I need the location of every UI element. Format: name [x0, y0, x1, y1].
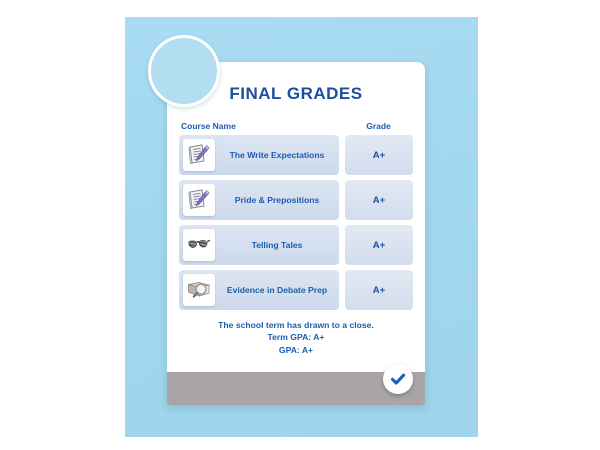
grade-value: A+	[345, 270, 413, 310]
table-row[interactable]: Telling Tales A+	[179, 225, 413, 265]
final-grades-card: FINAL GRADES Course Name Grade	[167, 62, 425, 405]
table-row[interactable]: Pride & Prepositions A+	[179, 180, 413, 220]
confirm-button[interactable]	[383, 364, 413, 394]
grade-value: A+	[345, 180, 413, 220]
card-body: FINAL GRADES Course Name Grade	[167, 62, 425, 372]
course-chip[interactable]: Evidence in Debate Prep	[179, 270, 339, 310]
course-chip[interactable]: Pride & Prepositions	[179, 180, 339, 220]
course-name-label: Telling Tales	[215, 240, 339, 251]
sunglasses-icon	[183, 229, 215, 261]
grade-value: A+	[345, 225, 413, 265]
notepad-pen-icon	[183, 139, 215, 171]
course-name-label: The Write Expectations	[215, 150, 339, 161]
report-card-stage: FINAL GRADES Course Name Grade	[125, 17, 478, 437]
notepad-pen-icon	[183, 184, 215, 216]
course-chip[interactable]: Telling Tales	[179, 225, 339, 265]
card-footer	[167, 372, 425, 405]
grade-value: A+	[345, 135, 413, 175]
summary-line-term-gpa: Term GPA: A+	[179, 331, 413, 343]
course-name-label: Evidence in Debate Prep	[215, 285, 339, 296]
decorative-circle	[148, 35, 220, 107]
column-headers: Course Name Grade	[179, 121, 413, 131]
summary-line-term-closed: The school term has drawn to a close.	[179, 319, 413, 331]
book-magnifier-icon	[183, 274, 215, 306]
column-header-grade: Grade	[346, 121, 411, 131]
checkmark-icon	[388, 369, 408, 389]
column-header-course-name: Course Name	[181, 121, 346, 131]
table-row[interactable]: The Write Expectations A+	[179, 135, 413, 175]
summary-text: The school term has drawn to a close. Te…	[179, 319, 413, 356]
summary-line-gpa: GPA: A+	[179, 344, 413, 356]
course-name-label: Pride & Prepositions	[215, 195, 339, 206]
course-chip[interactable]: The Write Expectations	[179, 135, 339, 175]
table-row[interactable]: Evidence in Debate Prep A+	[179, 270, 413, 310]
